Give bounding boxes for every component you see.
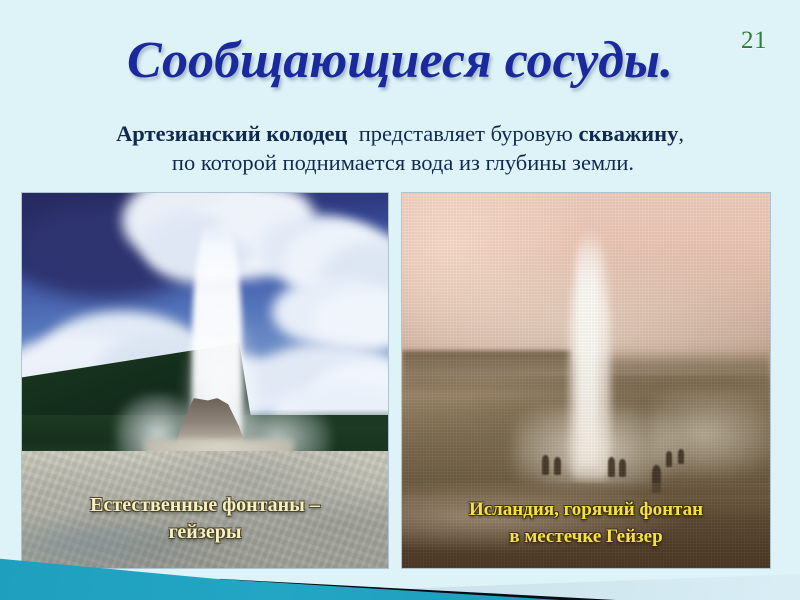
person-silhouette (678, 449, 684, 464)
caption-right-line-2: в местечке Гейзер (402, 523, 770, 550)
person-silhouette (619, 459, 626, 477)
person-silhouette (666, 451, 672, 467)
body-paragraph: Артезианский колодец представляет бурову… (34, 119, 766, 177)
photo-geysir-iceland[interactable]: Исландия, горячий фонтан в местечке Гейз… (402, 193, 770, 568)
person-silhouette (542, 455, 549, 475)
distant-ridge (402, 351, 572, 375)
body-line-1-middle: представляет буровую (347, 121, 578, 146)
slide: 21 Сообщающиеся сосуды. Артезианский кол… (0, 0, 800, 600)
body-line-1-end: , (678, 121, 684, 146)
slide-title: Сообщающиеся сосуды. (0, 30, 800, 92)
body-term-borehole: скважину (578, 121, 678, 146)
caption-right-line-1: Исландия, горячий фонтан (402, 496, 770, 523)
caption-left-line-1: Естественные фонтаны – (22, 492, 388, 519)
photo-caption-right: Исландия, горячий фонтан в местечке Гейз… (402, 496, 770, 550)
person-silhouette (608, 457, 615, 477)
body-line-1: Артезианский колодец представляет бурову… (34, 119, 766, 148)
photo-geyser-yellowstone[interactable]: Естественные фонтаны – гейзеры (22, 193, 388, 568)
body-term-artesian-well: Артезианский колодец (116, 121, 347, 146)
body-line-2: по которой поднимается вода из глубины з… (34, 148, 766, 177)
person-silhouette (554, 457, 561, 475)
photo-caption-left: Естественные фонтаны – гейзеры (22, 492, 388, 546)
caption-left-line-2: гейзеры (22, 519, 388, 546)
